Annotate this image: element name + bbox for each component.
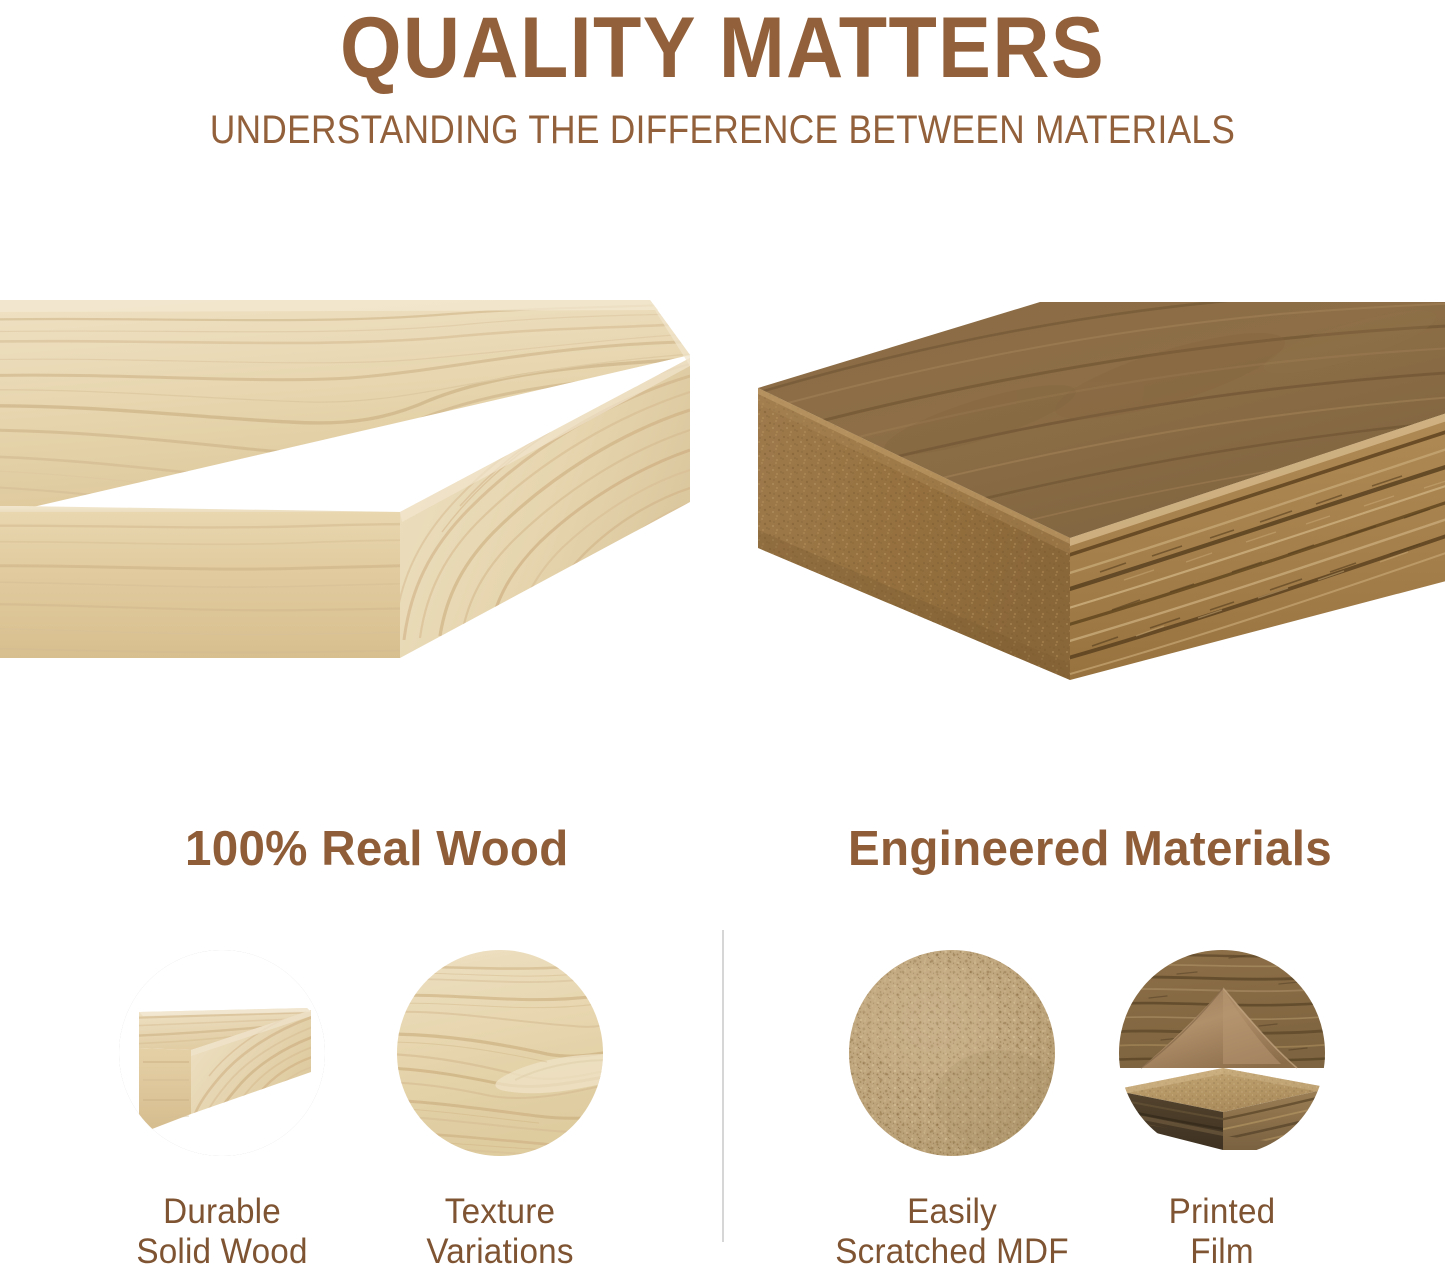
section-heading-real-wood: 100% Real Wood (185, 822, 569, 876)
feature-caption: Easily Scratched MDF (829, 1192, 1076, 1272)
solid-wood-corner-icon (119, 950, 325, 1156)
feature-caption: Texture Variations (377, 1192, 624, 1272)
page-title: QUALITY MATTERS (58, 0, 1387, 94)
feature-easily-scratched-mdf: Easily Scratched MDF (822, 950, 1082, 1272)
feature-caption: Printed Film (1099, 1192, 1346, 1272)
wood-grain-swatch-icon (397, 950, 603, 1156)
mdf-shelf-image (740, 280, 1445, 685)
hero-comparison-row (0, 280, 1445, 700)
solid-wood-shelf-image (0, 280, 710, 685)
section-divider (722, 930, 724, 1242)
mdf-shelf-svg (740, 280, 1445, 680)
section-heading-engineered-materials: Engineered Materials (848, 822, 1332, 876)
solid-wood-shelf-svg (0, 280, 710, 680)
peeling-printed-film-icon (1119, 950, 1325, 1156)
feature-durable-solid-wood: Durable Solid Wood (92, 950, 352, 1272)
page-subtitle: UNDERSTANDING THE DIFFERENCE BETWEEN MAT… (87, 94, 1359, 152)
feature-caption: Durable Solid Wood (99, 1192, 346, 1272)
feature-texture-variations: Texture Variations (370, 950, 630, 1272)
feature-printed-film: Printed Film (1092, 950, 1352, 1272)
header-block: QUALITY MATTERS UNDERSTANDING THE DIFFER… (0, 0, 1445, 152)
mdf-particle-swatch-icon (849, 950, 1055, 1156)
